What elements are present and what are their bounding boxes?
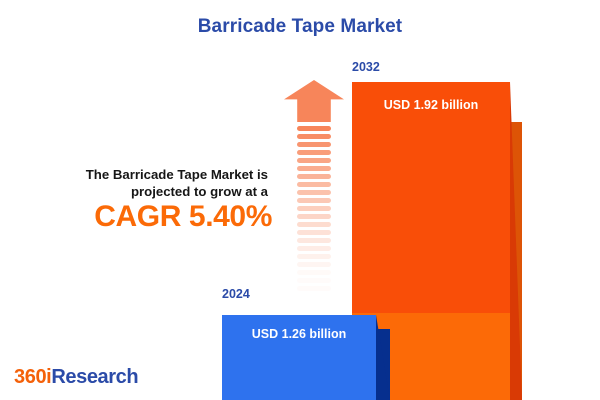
infographic-canvas: Barricade Tape Market The Barricade Tape… [0,0,600,400]
brand-logo: 360iResearch [14,366,138,389]
logo-mark: 360i [14,366,51,388]
bar-label-2032-year: 2032 [352,60,380,74]
bar-label-2024-value: USD 1.26 billion [222,327,376,341]
bar-chart-plot: 2032 USD 1.92 billion 2024 USD 1.26 bill… [0,0,600,400]
logo-word: Research [51,366,138,388]
bar-label-2032-value: USD 1.92 billion [352,98,510,112]
bar-label-2024-year: 2024 [222,287,250,301]
